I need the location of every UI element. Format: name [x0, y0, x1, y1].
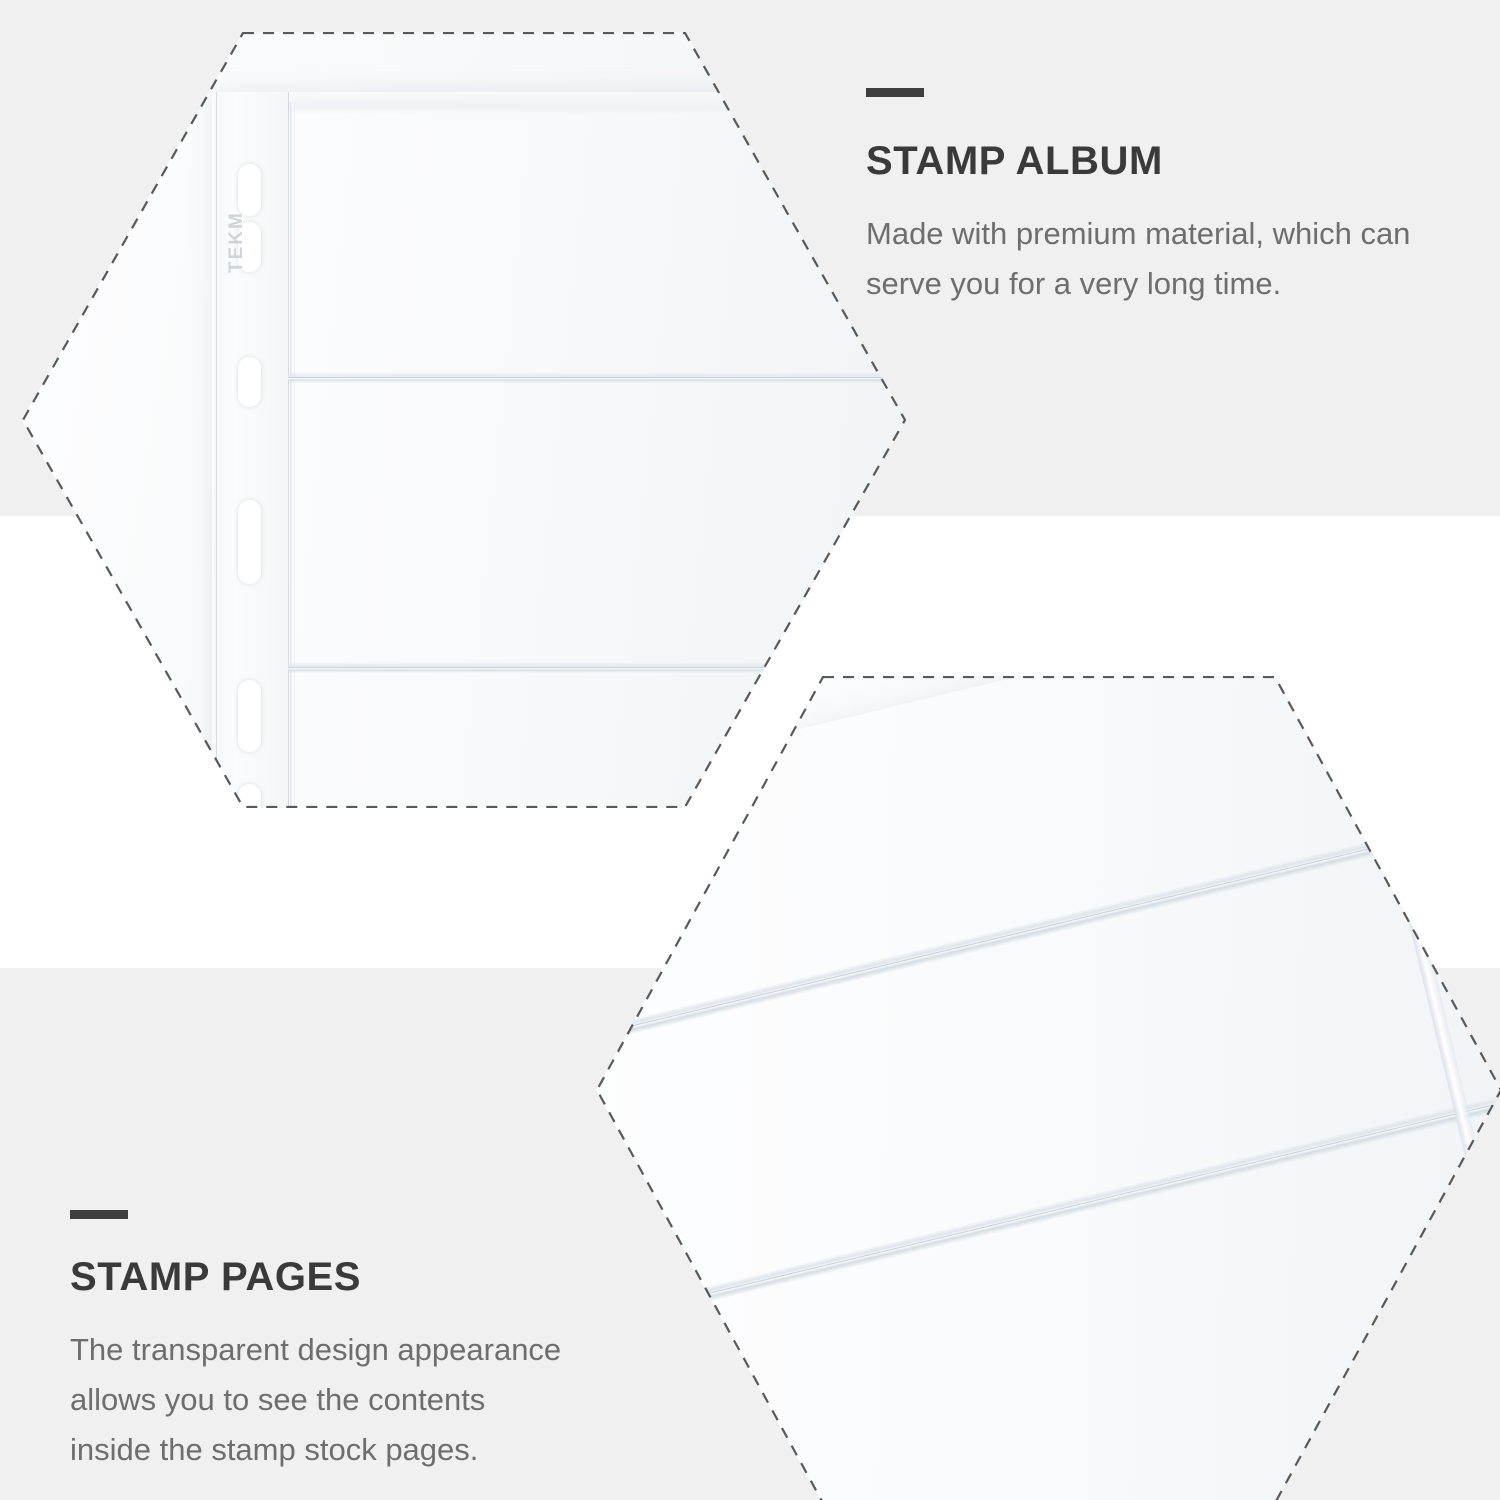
feature-body: The transparent design appearance allows…	[70, 1325, 650, 1476]
hexagon-frame-stamp-pages	[596, 676, 1500, 1500]
feature-body-line: serve you for a very long time.	[866, 266, 1281, 301]
album-pocket-vertical-edge	[290, 102, 295, 808]
feature-title: STAMP ALBUM	[866, 139, 1466, 183]
feature-text-stamp-album: STAMP ALBUM Made with premium material, …	[866, 88, 1466, 309]
feature-body-line: allows you to see the contents	[70, 1382, 485, 1417]
stamp-page-sheet	[596, 676, 1500, 1500]
accent-dash	[866, 88, 924, 97]
album-pocket-seam	[288, 662, 906, 673]
stamp-pages-photo	[596, 676, 1500, 1500]
stamp-pages-photo-clip	[596, 676, 1500, 1500]
infographic-canvas: TEKM STAMP ALBUM Made with p	[0, 0, 1500, 1500]
feature-body-line: The transparent design appearance	[70, 1332, 561, 1367]
brand-emboss-text: TEKM	[220, 182, 254, 302]
accent-dash	[70, 1210, 128, 1219]
binder-punch-hole	[238, 784, 261, 808]
feature-body-line: Made with premium material, which can	[866, 216, 1410, 251]
stamp-page-seam	[596, 1072, 1500, 1351]
stamp-page-stack-edge	[596, 1412, 1500, 1500]
stamp-page-seam	[596, 802, 1500, 1081]
binder-punch-hole	[238, 357, 261, 407]
binder-punch-hole	[238, 500, 261, 584]
album-pocket-seam	[288, 372, 906, 383]
feature-body-line: inside the stamp stock pages.	[70, 1432, 478, 1467]
feature-text-stamp-pages: STAMP PAGES The transparent design appea…	[70, 1210, 650, 1476]
feature-body: Made with premium material, which can se…	[866, 209, 1466, 309]
binder-punch-hole	[238, 680, 261, 752]
album-page-top-band	[212, 92, 906, 114]
stamp-page-right-edge	[1332, 676, 1500, 1457]
feature-title: STAMP PAGES	[70, 1255, 650, 1299]
